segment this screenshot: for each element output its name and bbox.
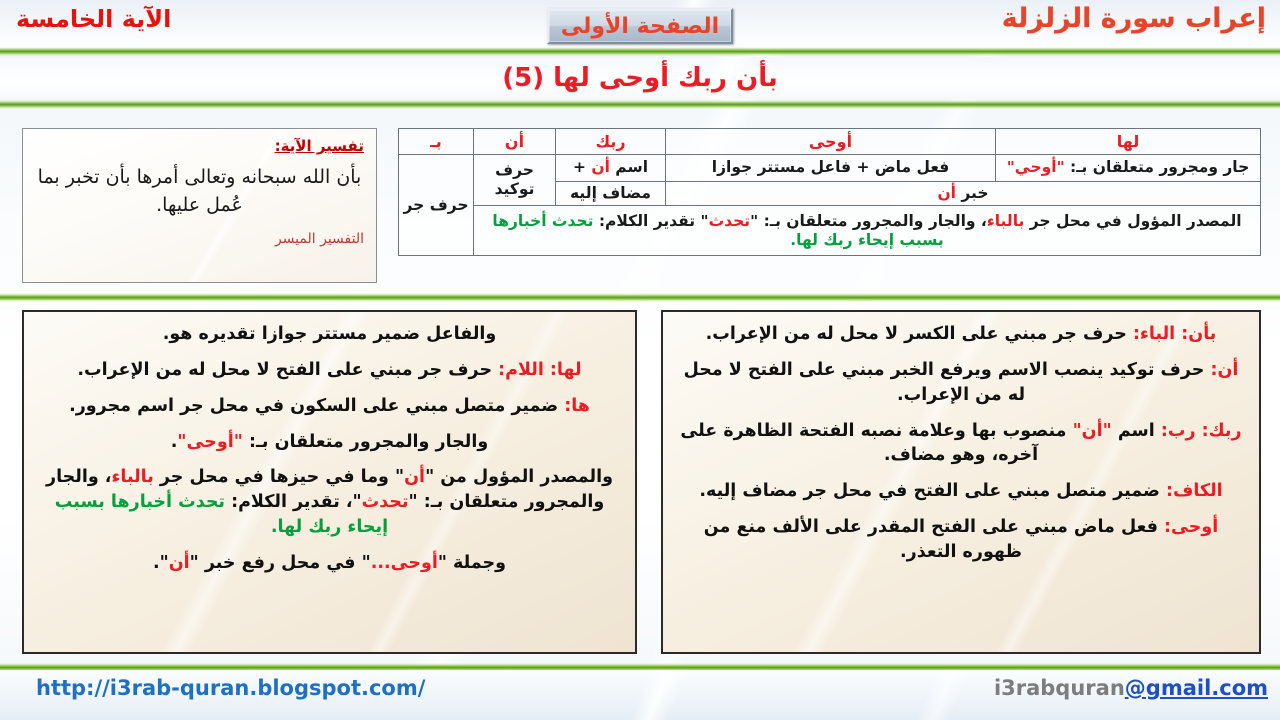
irab-entry: والمصدر المؤول من "أن" وما في حيزها في م… <box>38 465 621 540</box>
irab-table: لها أوحى ربك أن بـ جار ومجرور متعلقان بـ… <box>398 128 1261 256</box>
plain-fragment: ، والجار والمجرور متعلقان بـ: " <box>750 212 987 230</box>
email-user: i3rabquran <box>994 676 1125 700</box>
col-header-ba: بـ <box>399 129 474 155</box>
irab-entry-lemma: لها: اللام: <box>498 360 581 380</box>
verse-number-label: الآية الخامسة <box>16 5 171 33</box>
plain-fragment: " تقدير الكلام: <box>593 212 708 230</box>
irab-entry: أوحى: فعل ماض مبني على الفتح المقدر على … <box>677 515 1245 565</box>
plain-fragment: ". <box>153 553 169 573</box>
plain-fragment: المصدر المؤول في محل جر <box>1024 212 1241 230</box>
irab-entry: والجار والمجرور متعلقان بـ: "أوحى". <box>38 430 621 455</box>
slide-page: إعراب سورة الزلزلة الآية الخامسة الصفحة … <box>0 0 1280 720</box>
highlight-fragment: أن <box>169 553 190 573</box>
cell-laha-role: جار ومجرور متعلقان بـ: "أوحي" <box>996 155 1261 182</box>
tafsir-text: بأن الله سبحانه وتعالى أمرها بأن تخبر بم… <box>35 164 364 219</box>
irab-entry-text: فعل ماض مبني على الفتح المقدر على الألف … <box>704 517 1164 562</box>
irab-entry: ربك: رب: اسم "أن" منصوب بها وعلامة نصبه … <box>677 419 1245 469</box>
irab-entry: والفاعل ضمير مستتر جوازا تقديره هو. <box>38 322 621 347</box>
header-band: إعراب سورة الزلزلة الآية الخامسة الصفحة … <box>0 0 1280 48</box>
cell-rabbika-role-a: اسم أن + <box>556 155 666 182</box>
irab-entry-lemma: ها: <box>564 396 590 416</box>
highlight-fragment: "أوحى" <box>177 432 242 452</box>
table-header-row: لها أوحى ربك أن بـ <box>399 129 1261 155</box>
plain-fragment: "، تقدير الكلام: <box>225 492 362 512</box>
plain-fragment: وجملة " <box>438 553 506 573</box>
plain-fragment: " في محل رفع خبر " <box>190 553 371 573</box>
irab-entry: وجملة "أوحى..." في محل رفع خبر "أن". <box>38 551 621 576</box>
irab-entry-lemma: بأن: الباء: <box>1133 324 1216 344</box>
irab-entry-lemma: أوحى: <box>1164 517 1218 537</box>
highlight-fragment: تحدث <box>709 212 751 230</box>
cell-awha-role: فعل ماض + فاعل مستتر جوازا <box>666 155 996 182</box>
col-header-laha: لها <box>996 129 1261 155</box>
highlight-fragment: أن <box>591 158 610 176</box>
highlight-fragment: أن <box>937 184 956 202</box>
irab-entry: أن: حرف توكيد ينصب الاسم ويرفع الخبر مبن… <box>677 358 1245 408</box>
tafsir-box: تفسير الآية: بأن الله سبحانه وتعالى أمره… <box>22 128 377 283</box>
verse-title: بأن ربك أوحى لها (5) <box>0 57 1280 99</box>
highlight-fragment: أن <box>404 467 425 487</box>
cell-an-role-text: حرف توكيد <box>495 161 535 198</box>
irab-entry-text: والمصدر المؤول من "أن" وما في حيزها في م… <box>46 467 613 537</box>
cell-khabar-an: خبر أن <box>666 182 1261 206</box>
irab-entry-text: والفاعل ضمير مستتر جوازا تقديره هو. <box>163 324 497 344</box>
tafsir-label: تفسير الآية: <box>35 137 364 155</box>
irab-entry-lemma: أن: <box>1210 360 1238 380</box>
divider-top <box>0 47 1280 56</box>
tafsir-source: التفسير الميسر <box>35 231 364 247</box>
irab-entry-text: حرف توكيد ينصب الاسم ويرفع الخبر مبني عل… <box>684 360 1211 405</box>
irab-entry-text: وجملة "أوحى..." في محل رفع خبر "أن". <box>153 553 506 573</box>
col-header-an: أن <box>474 129 556 155</box>
cell-ba-role: حرف جر <box>399 155 474 256</box>
irab-entry-text: ضمير متصل مبني على السكون في محل جر اسم … <box>69 396 564 416</box>
plain-fragment: والمصدر المؤول من " <box>425 467 613 487</box>
email-link[interactable]: i3rabquran@gmail.com <box>994 676 1268 700</box>
cell-masdar-muawwal: المصدر المؤول في محل جر بالباء، والجار و… <box>474 206 1261 256</box>
table-row: جار ومجرور متعلقان بـ: "أوحي" فعل ماض + … <box>399 155 1261 182</box>
email-domain: @gmail.com <box>1125 676 1268 700</box>
col-header-rabbika: ربك <box>556 129 666 155</box>
irab-entry: لها: اللام: حرف جر مبني على الفتح لا محل… <box>38 358 621 383</box>
table-row: المصدر المؤول في محل جر بالباء، والجار و… <box>399 206 1261 256</box>
irab-entry-text: اسم "أن" منصوب بها وعلامة نصبه الفتحة ال… <box>680 421 1160 466</box>
irab-entry: بأن: الباء: حرف جر مبني على الكسر لا محل… <box>677 322 1245 347</box>
cell-laha-role-text: جار ومجرور متعلقان بـ: "أوحي" <box>1007 158 1250 176</box>
cell-ba-role-text: حرف جر <box>403 196 468 214</box>
first-page-button[interactable]: الصفحة الأولى <box>547 8 733 44</box>
irab-entry-lemma: ربك: رب: <box>1161 421 1242 441</box>
highlight-fragment: تحدث <box>362 492 409 512</box>
irab-entry-lemma: الكاف: <box>1166 481 1223 501</box>
highlight-fragment: "أوحي" <box>1007 158 1065 176</box>
highlight-fragment: بالباء <box>987 212 1025 230</box>
page-title: إعراب سورة الزلزلة <box>1002 3 1266 34</box>
irab-entry-text: حرف جر مبني على الكسر لا محل له من الإعر… <box>706 324 1133 344</box>
highlight-fragment: بالباء <box>111 467 153 487</box>
irab-entry-text: ضمير متصل مبني على الفتح في محل جر مضاف … <box>699 481 1166 501</box>
irab-entry: ها: ضمير متصل مبني على السكون في محل جر … <box>38 394 621 419</box>
irab-detail-panel-right: بأن: الباء: حرف جر مبني على الكسر لا محل… <box>661 310 1261 654</box>
blog-url-link[interactable]: http://i3rab-quran.blogspot.com/ <box>36 676 425 700</box>
highlight-fragment: "أن" <box>1073 421 1112 441</box>
irab-entry-text: حرف جر مبني على الفتح لا محل له من الإعر… <box>77 360 498 380</box>
irab-entry: الكاف: ضمير متصل مبني على الفتح في محل ج… <box>677 479 1245 504</box>
cell-an-role: حرف توكيد <box>474 155 556 206</box>
divider-above-panels <box>0 293 1280 302</box>
irab-entry-text: والجار والمجرور متعلقان بـ: "أوحى". <box>171 432 488 452</box>
col-header-awha: أوحى <box>666 129 996 155</box>
plain-fragment: " وما في حيزها في محل جر <box>154 467 404 487</box>
divider-under-verse <box>0 100 1280 109</box>
irab-detail-panel-left: والفاعل ضمير مستتر جوازا تقديره هو. لها:… <box>22 310 637 654</box>
highlight-fragment: أوحى... <box>371 553 438 573</box>
first-page-button-label: الصفحة الأولى <box>561 14 719 39</box>
cell-rabbika-role-b: مضاف إليه <box>556 182 666 206</box>
